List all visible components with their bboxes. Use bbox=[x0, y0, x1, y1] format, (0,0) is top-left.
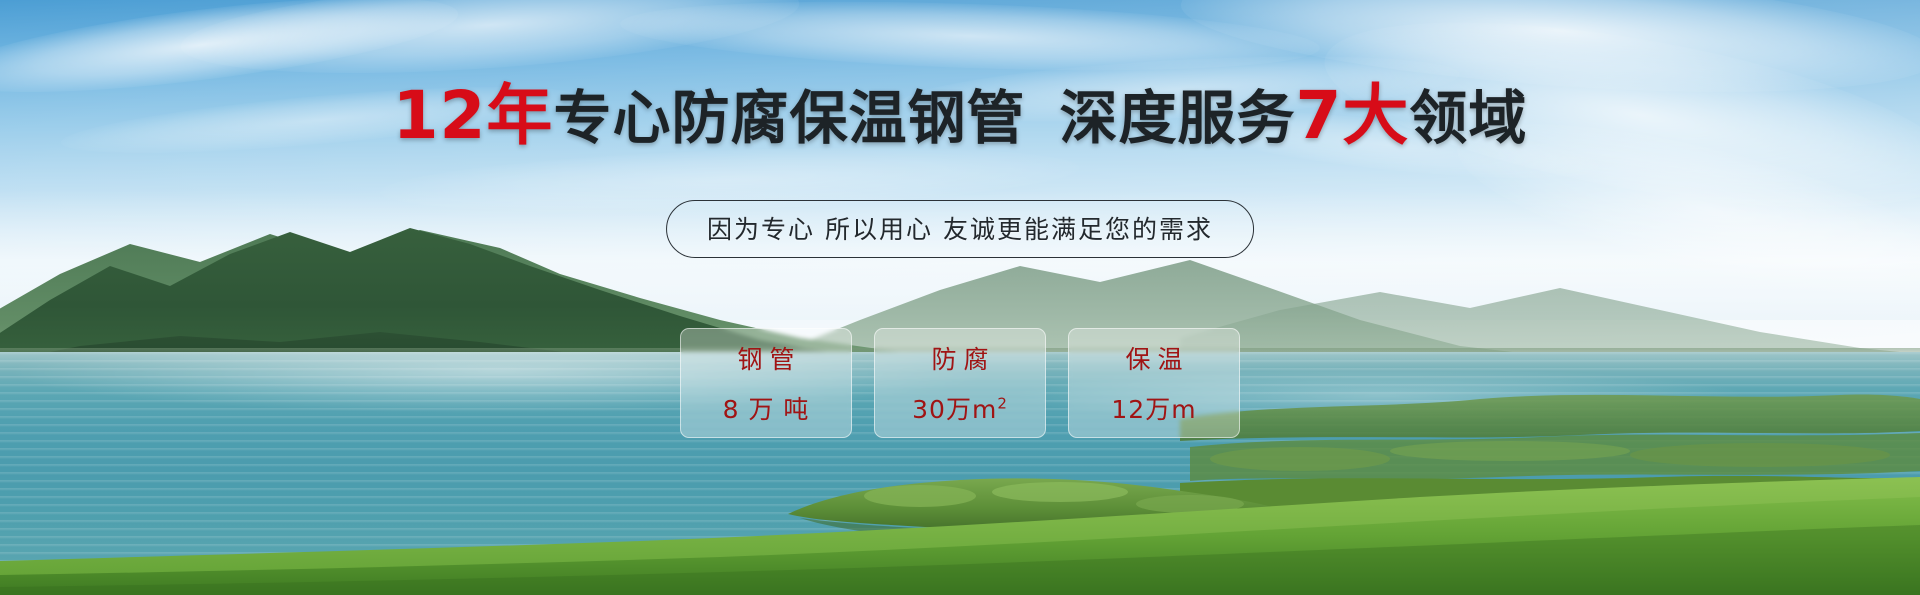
page-title: 12年专心防腐保温钢管深度服务7大领域 bbox=[0, 83, 1920, 149]
subtitle-pill: 因为专心 所以用心 友诚更能满足您的需求 bbox=[666, 200, 1254, 258]
stat-card-group: 钢管 8 万 吨 防腐 30万m2 保温 12万m bbox=[680, 328, 1240, 438]
stat-value: 12万m bbox=[1111, 390, 1196, 426]
stat-value: 8 万 吨 bbox=[723, 390, 810, 426]
headline-segment-fields: 领域 bbox=[1409, 84, 1527, 152]
headline-segment-seven: 7大 bbox=[1295, 77, 1409, 154]
headline-segment-service: 深度服务 bbox=[1059, 84, 1295, 152]
stat-card-steel-pipe[interactable]: 钢管 8 万 吨 bbox=[680, 328, 852, 438]
stat-label: 钢管 bbox=[730, 340, 801, 376]
stat-card-anticorrosion[interactable]: 防腐 30万m2 bbox=[874, 328, 1046, 438]
stat-value-superscript: 2 bbox=[997, 395, 1008, 413]
banner-content: 12年专心防腐保温钢管深度服务7大领域 因为专心 所以用心 友诚更能满足您的需求… bbox=[0, 0, 1920, 595]
stat-value-main: 30万m bbox=[912, 395, 997, 424]
stat-value-main: 8 万 吨 bbox=[723, 395, 810, 424]
stat-label: 保温 bbox=[1118, 340, 1189, 376]
headline-segment-years: 12年 bbox=[393, 77, 554, 154]
hero-banner: 12年专心防腐保温钢管深度服务7大领域 因为专心 所以用心 友诚更能满足您的需求… bbox=[0, 0, 1920, 595]
stat-card-insulation[interactable]: 保温 12万m bbox=[1068, 328, 1240, 438]
headline-segment-focus: 专心防腐保温钢管 bbox=[553, 84, 1025, 152]
stat-value-main: 12万m bbox=[1111, 395, 1196, 424]
stat-value: 30万m2 bbox=[912, 390, 1008, 426]
stat-label: 防腐 bbox=[924, 340, 995, 376]
